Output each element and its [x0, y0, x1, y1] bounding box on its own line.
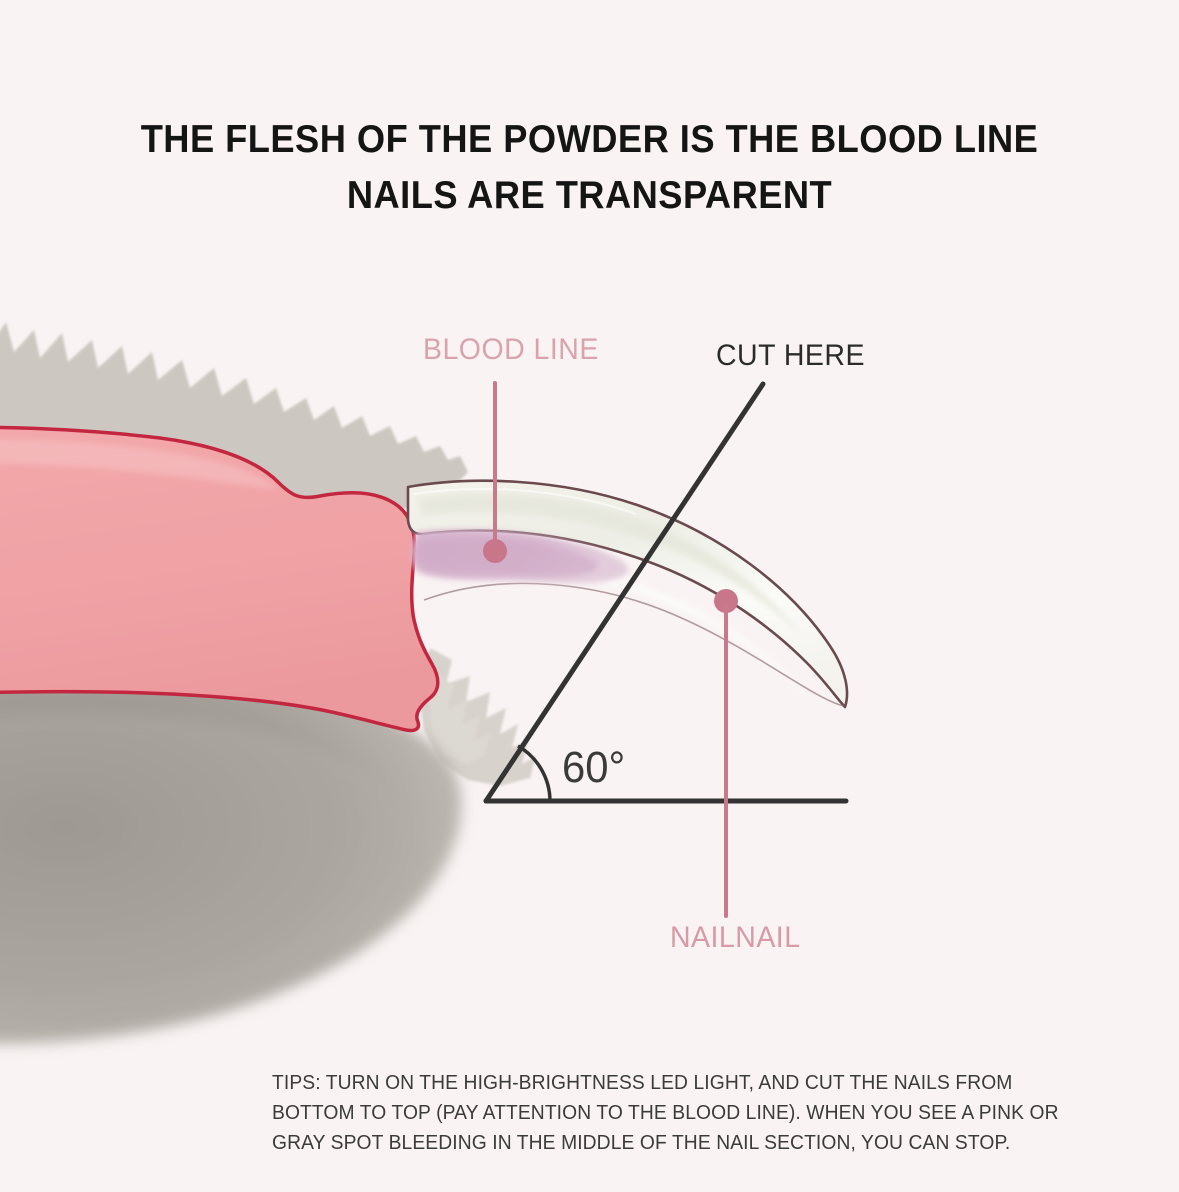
blood-line-dot: [483, 539, 507, 563]
label-angle-60: 60°: [562, 743, 625, 793]
label-nailnail: NAILNAIL: [670, 921, 801, 955]
label-cut-here: CUT HERE: [716, 339, 865, 373]
cut-angle-guides: [486, 384, 846, 801]
guide-page: THE FLESH OF THE POWDER IS THE BLOOD LIN…: [0, 0, 1179, 1192]
tips-text: TIPS: TURN ON THE HIGH-BRIGHTNESS LED LI…: [272, 1068, 1071, 1158]
claw: [408, 481, 847, 707]
nail-anatomy-illustration: [0, 0, 1179, 1192]
label-blood-line: BLOOD LINE: [423, 333, 599, 367]
